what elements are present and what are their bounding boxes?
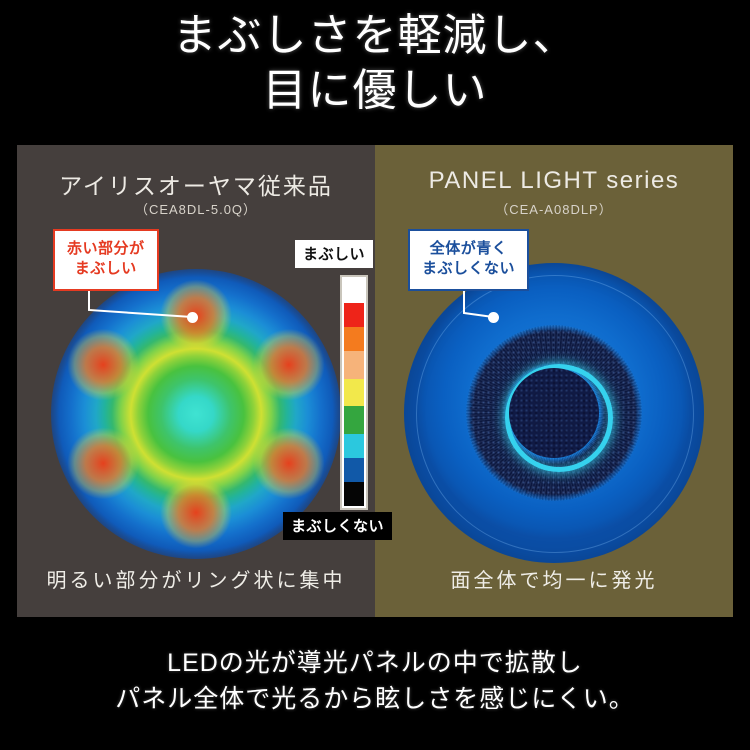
color-band-black [344,482,364,506]
right-panel-title: PANEL LIGHT series [375,167,733,195]
left-panel-title: アイリスオーヤマ従来品 [17,167,375,201]
footer-description: LEDの光が導光パネルの中で拡散し パネル全体で光るから眩しさを感じにくい。 [0,645,750,718]
color-band-red [344,303,364,327]
panel-panel-light-series: PANEL LIGHT series （CEA-A08DLP） 面全体で均一に発… [375,145,733,617]
color-band-blue [344,458,364,482]
right-panel-model-number: （CEA-A08DLP） [375,199,733,218]
color-band-orange [344,327,364,351]
left-panel-caption: 明るい部分がリング状に集中 [17,564,375,593]
footer-line-2: パネル全体で光るから眩しさを感じにくい。 [0,681,750,717]
color-scale-bar [340,275,368,510]
footer-line-1: LEDの光が導光パネルの中で拡散し [0,645,750,681]
callout-red-glare: 赤い部分が まぶしい [53,229,159,291]
heatmap-panel-light [404,263,704,563]
left-callout-leader-dot [187,312,198,323]
headline-line-2: 目に優しい [0,63,750,118]
legend-label-high: まぶしい [295,240,373,268]
color-band-peach [344,351,364,379]
panel-conventional-product: アイリスオーヤマ従来品 （CEA8DL-5.0Q） 明るい部分がリング状に集中 [17,145,375,617]
comparison-board: アイリスオーヤマ従来品 （CEA8DL-5.0Q） 明るい部分がリング状に集中 … [17,145,733,617]
left-panel-model-number: （CEA8DL-5.0Q） [17,199,375,218]
headline-line-1: まぶしさを軽減し、 [0,8,750,63]
right-callout-leader-dot [488,312,499,323]
page-title: まぶしさを軽減し、 目に優しい [0,8,750,118]
color-band-white [344,279,364,303]
callout-blue-no-glare: 全体が青く まぶしくない [408,229,529,291]
color-band-yellow [344,379,364,407]
legend-label-low: まぶしくない [283,512,392,540]
color-band-cyan [344,434,364,458]
right-panel-caption: 面全体で均一に発光 [375,564,733,593]
inner-dark-core [509,368,599,458]
color-band-green [344,406,364,434]
